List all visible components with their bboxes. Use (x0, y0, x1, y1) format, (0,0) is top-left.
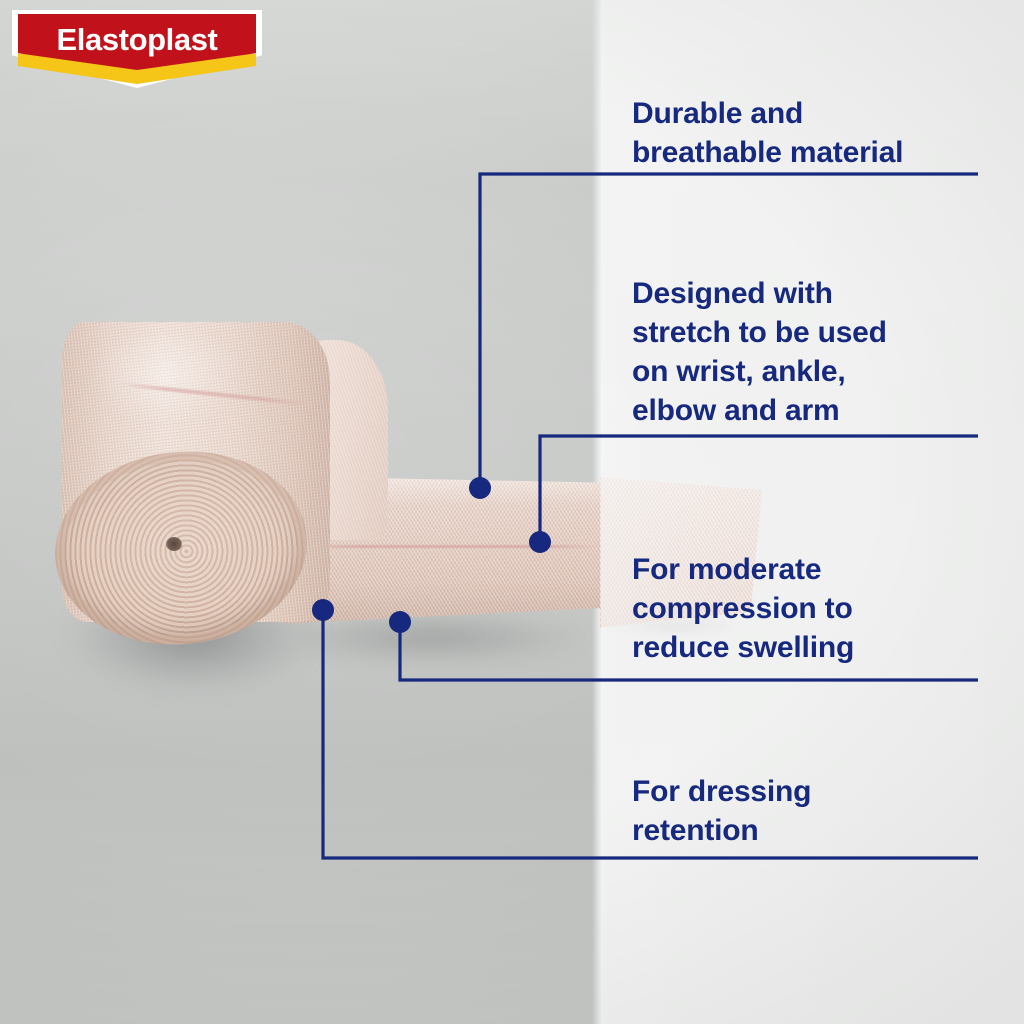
marker-dot-dressing (312, 599, 334, 621)
marker-dot-stretch (529, 531, 551, 553)
leader-line-stretch (540, 436, 978, 542)
marker-dot-durable (469, 477, 491, 499)
callout-text-durable: Durable and breathable material (632, 94, 903, 172)
callout-text-compression: For moderate compression to reduce swell… (632, 550, 854, 667)
callout-text-stretch: Designed with stretch to be used on wris… (632, 274, 887, 430)
callout-text-dressing: For dressing retention (632, 772, 811, 850)
marker-dot-compression (389, 611, 411, 633)
logo-wordmark: Elastoplast (12, 22, 262, 58)
infographic-canvas: Elastoplast Durable and breathable mater… (0, 0, 1024, 1024)
